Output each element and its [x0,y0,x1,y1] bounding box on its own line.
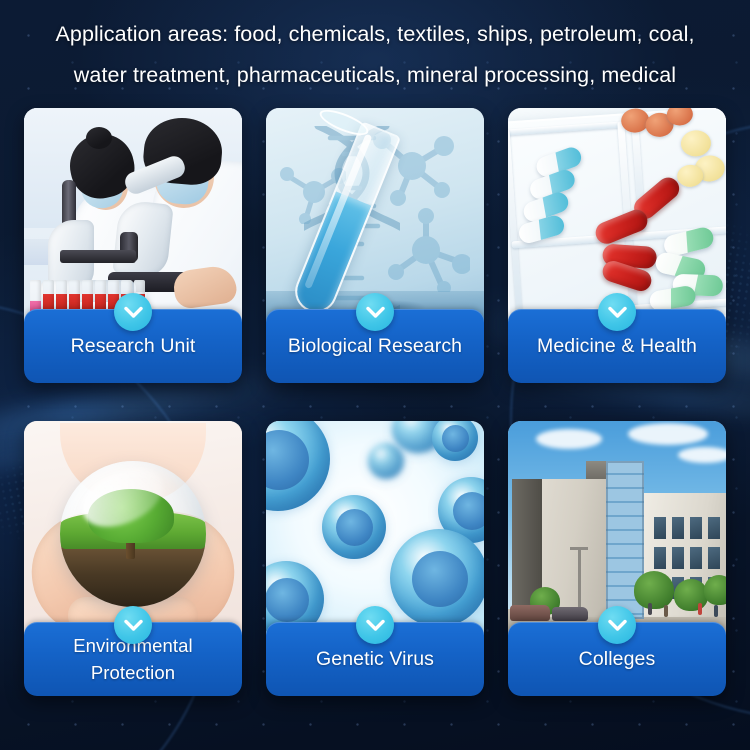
card-environmental-protection[interactable]: Environmental Protection [24,421,242,696]
chevron-down-icon[interactable] [114,293,152,331]
glass-globe-graphic [60,461,206,607]
chevron-down-icon[interactable] [598,606,636,644]
molecule-graphic [386,206,470,292]
card-label-text: Genetic Virus [274,647,476,672]
card-biological-research[interactable]: Biological Research [266,108,484,383]
chevron-down-icon[interactable] [356,606,394,644]
card-label-text: Biological Research [274,334,476,359]
application-card-grid: Research Unit [24,108,726,696]
title-line-1: Application areas: food, chemicals, text… [40,14,710,55]
card-label-text: Colleges [516,647,718,672]
card-medicine-health[interactable]: Medicine & Health [508,108,726,383]
card-label-text: Medicine & Health [516,334,718,359]
card-colleges[interactable]: Colleges [508,421,726,696]
card-research-unit[interactable]: Research Unit [24,108,242,383]
chevron-down-icon[interactable] [598,293,636,331]
application-areas-banner: Application areas: food, chemicals, text… [0,0,750,750]
card-genetic-virus[interactable]: Genetic Virus [266,421,484,696]
title-line-2: water treatment, pharmaceuticals, minera… [40,55,710,96]
chevron-down-icon[interactable] [356,293,394,331]
chevron-down-icon[interactable] [114,606,152,644]
page-title: Application areas: food, chemicals, text… [0,0,750,96]
card-label-text: Research Unit [32,334,234,359]
